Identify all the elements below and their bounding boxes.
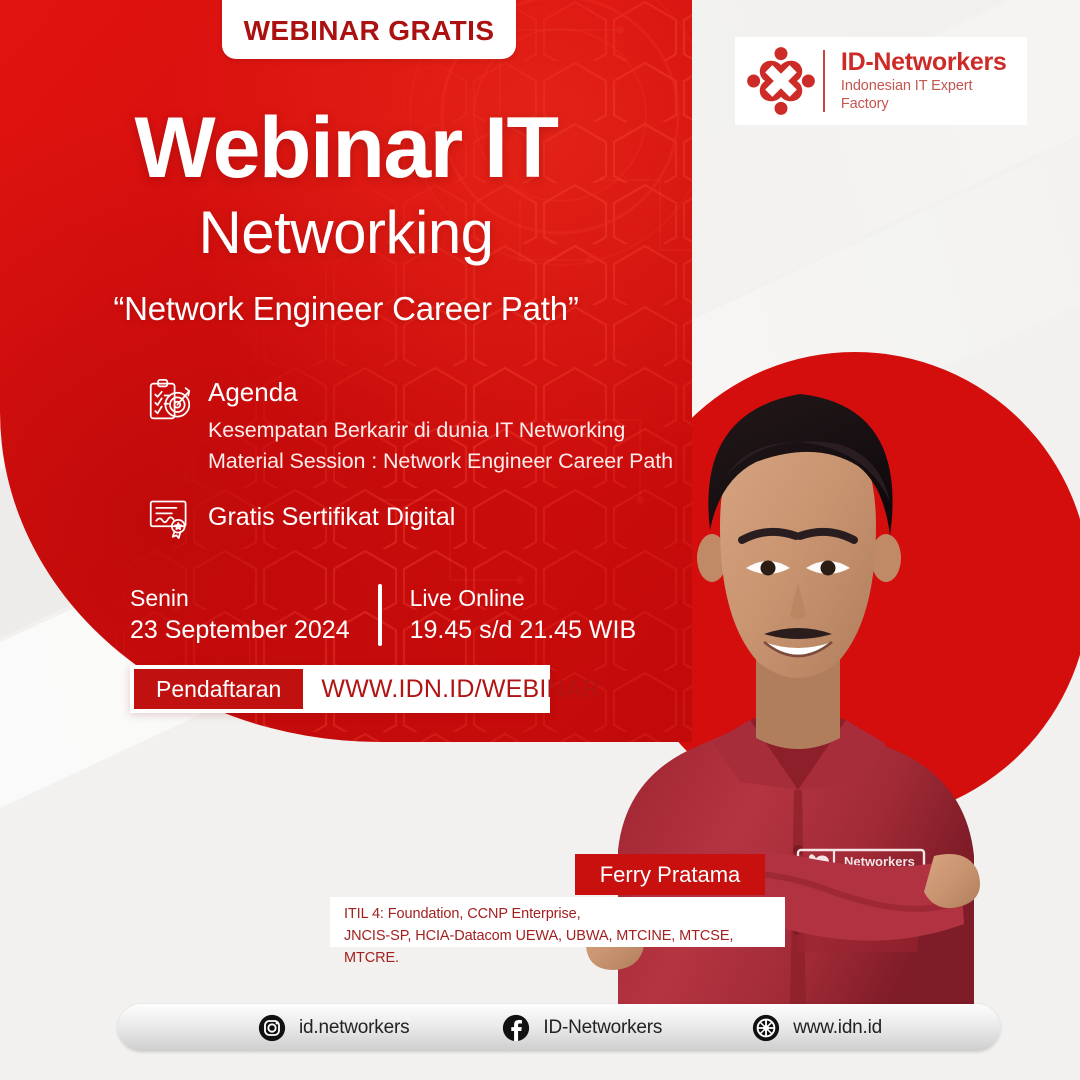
badge-label: WEBINAR GRATIS <box>244 15 495 47</box>
speaker-certifications: ITIL 4: Foundation, CCNP Enterprise, JNC… <box>330 897 785 947</box>
social-footer-bar: id.networkers ID-Networkers www.idn.id <box>118 1004 1000 1051</box>
people-x-logo-icon <box>745 45 817 117</box>
globe-icon[interactable] <box>752 1014 780 1042</box>
clipboard-target-icon <box>148 378 192 424</box>
page-title: Webinar IT <box>0 105 692 191</box>
speaker-name: Ferry Pratama <box>575 854 765 895</box>
facebook-icon[interactable] <box>502 1014 530 1042</box>
facebook-handle[interactable]: ID-Networkers <box>543 1017 662 1039</box>
brand-tagline: Indonesian IT Expert Factory <box>841 77 1017 113</box>
social-instagram[interactable]: id.networkers <box>258 1014 409 1042</box>
schedule-date-column: Senin 23 September 2024 <box>130 583 350 648</box>
certification-line-2: JNCIS-SP, HCIA-Datacom UEWA, UBWA, MTCIN… <box>344 925 785 969</box>
webinar-gratis-badge: WEBINAR GRATIS <box>222 0 516 59</box>
logo-divider <box>823 50 825 112</box>
registration-button[interactable]: Pendaftaran <box>134 669 303 709</box>
registration-bar[interactable]: Pendaftaran WWW.IDN.ID/WEBINAR <box>130 665 550 713</box>
certificate-section: Gratis Sertifikat Digital <box>148 495 455 541</box>
schedule-day: Senin <box>130 583 350 614</box>
certification-line-1: ITIL 4: Foundation, CCNP Enterprise, <box>344 903 785 925</box>
social-website[interactable]: www.idn.id <box>752 1014 882 1042</box>
instagram-handle[interactable]: id.networkers <box>299 1017 409 1039</box>
social-facebook[interactable]: ID-Networkers <box>502 1014 662 1042</box>
brand-name: ID-Networkers <box>841 49 1017 75</box>
certificate-icon <box>148 495 192 541</box>
brand-logo-card: ID-Networkers Indonesian IT Expert Facto… <box>735 37 1027 125</box>
certificate-label: Gratis Sertifikat Digital <box>208 504 455 532</box>
poster-canvas: WEBINAR GRATIS ID-Networkers Indonesian … <box>0 0 1080 1080</box>
schedule-divider <box>378 584 382 646</box>
instagram-icon[interactable] <box>258 1014 286 1042</box>
page-subtitle: Networking <box>0 195 692 270</box>
schedule-date: 23 September 2024 <box>130 614 350 648</box>
website-url[interactable]: www.idn.id <box>793 1017 882 1039</box>
